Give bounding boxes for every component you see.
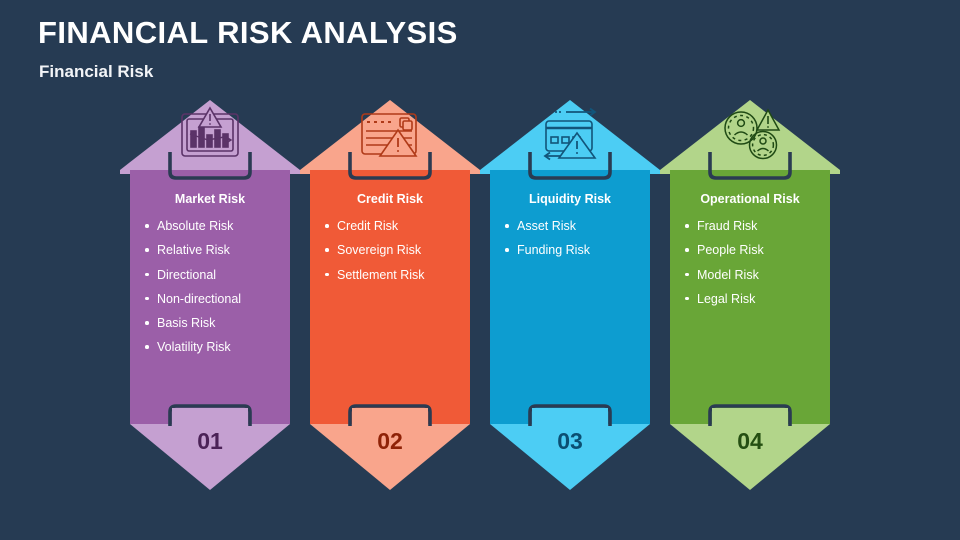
risk-column-market-risk[interactable]: Market Risk Absolute Risk Relative Risk … xyxy=(120,100,300,492)
list-item: Fraud Risk xyxy=(684,219,830,234)
column-item-list-1: Absolute Risk Relative Risk Directional … xyxy=(144,219,290,365)
risk-column-operational-risk[interactable]: Operational Risk Fraud Risk People Risk … xyxy=(660,100,840,492)
arrow-head-4 xyxy=(660,100,840,170)
slide-root: FINANCIAL RISK ANALYSIS Financial Risk xyxy=(0,0,960,540)
column-item-list-4: Fraud Risk People Risk Model Risk Legal … xyxy=(684,219,830,316)
column-number: 04 xyxy=(660,430,840,453)
arrow-head-3 xyxy=(480,100,660,170)
list-item: Legal Risk xyxy=(684,292,830,307)
list-item: Directional xyxy=(144,268,290,283)
arrow-head-2 xyxy=(300,100,480,170)
column-heading: Market Risk xyxy=(120,193,300,206)
risk-column-liquidity-risk[interactable]: Liquidity Risk Asset Risk Funding Risk 0… xyxy=(480,100,660,492)
list-item: Model Risk xyxy=(684,268,830,283)
list-item: Relative Risk xyxy=(144,243,290,258)
column-item-list-3: Asset Risk Funding Risk xyxy=(504,219,650,268)
column-number: 03 xyxy=(480,430,660,453)
column-heading: Operational Risk xyxy=(660,193,840,206)
column-heading: Liquidity Risk xyxy=(480,193,660,206)
column-number: 01 xyxy=(120,430,300,453)
list-item: Sovereign Risk xyxy=(324,243,470,258)
list-item: People Risk xyxy=(684,243,830,258)
column-body-3 xyxy=(490,170,650,424)
list-item: Funding Risk xyxy=(504,243,650,258)
list-item: Absolute Risk xyxy=(144,219,290,234)
list-item: Non-directional xyxy=(144,292,290,307)
risk-columns: Market Risk Absolute Risk Relative Risk … xyxy=(0,0,960,540)
list-item: Credit Risk xyxy=(324,219,470,234)
column-item-list-2: Credit Risk Sovereign Risk Settlement Ri… xyxy=(324,219,470,292)
column-heading: Credit Risk xyxy=(300,193,480,206)
risk-column-credit-risk[interactable]: Credit Risk Credit Risk Sovereign Risk S… xyxy=(300,100,480,492)
column-number: 02 xyxy=(300,430,480,453)
list-item: Asset Risk xyxy=(504,219,650,234)
list-item: Settlement Risk xyxy=(324,268,470,283)
column-body-2 xyxy=(310,170,470,424)
list-item: Volatility Risk xyxy=(144,340,290,355)
list-item: Basis Risk xyxy=(144,316,290,331)
